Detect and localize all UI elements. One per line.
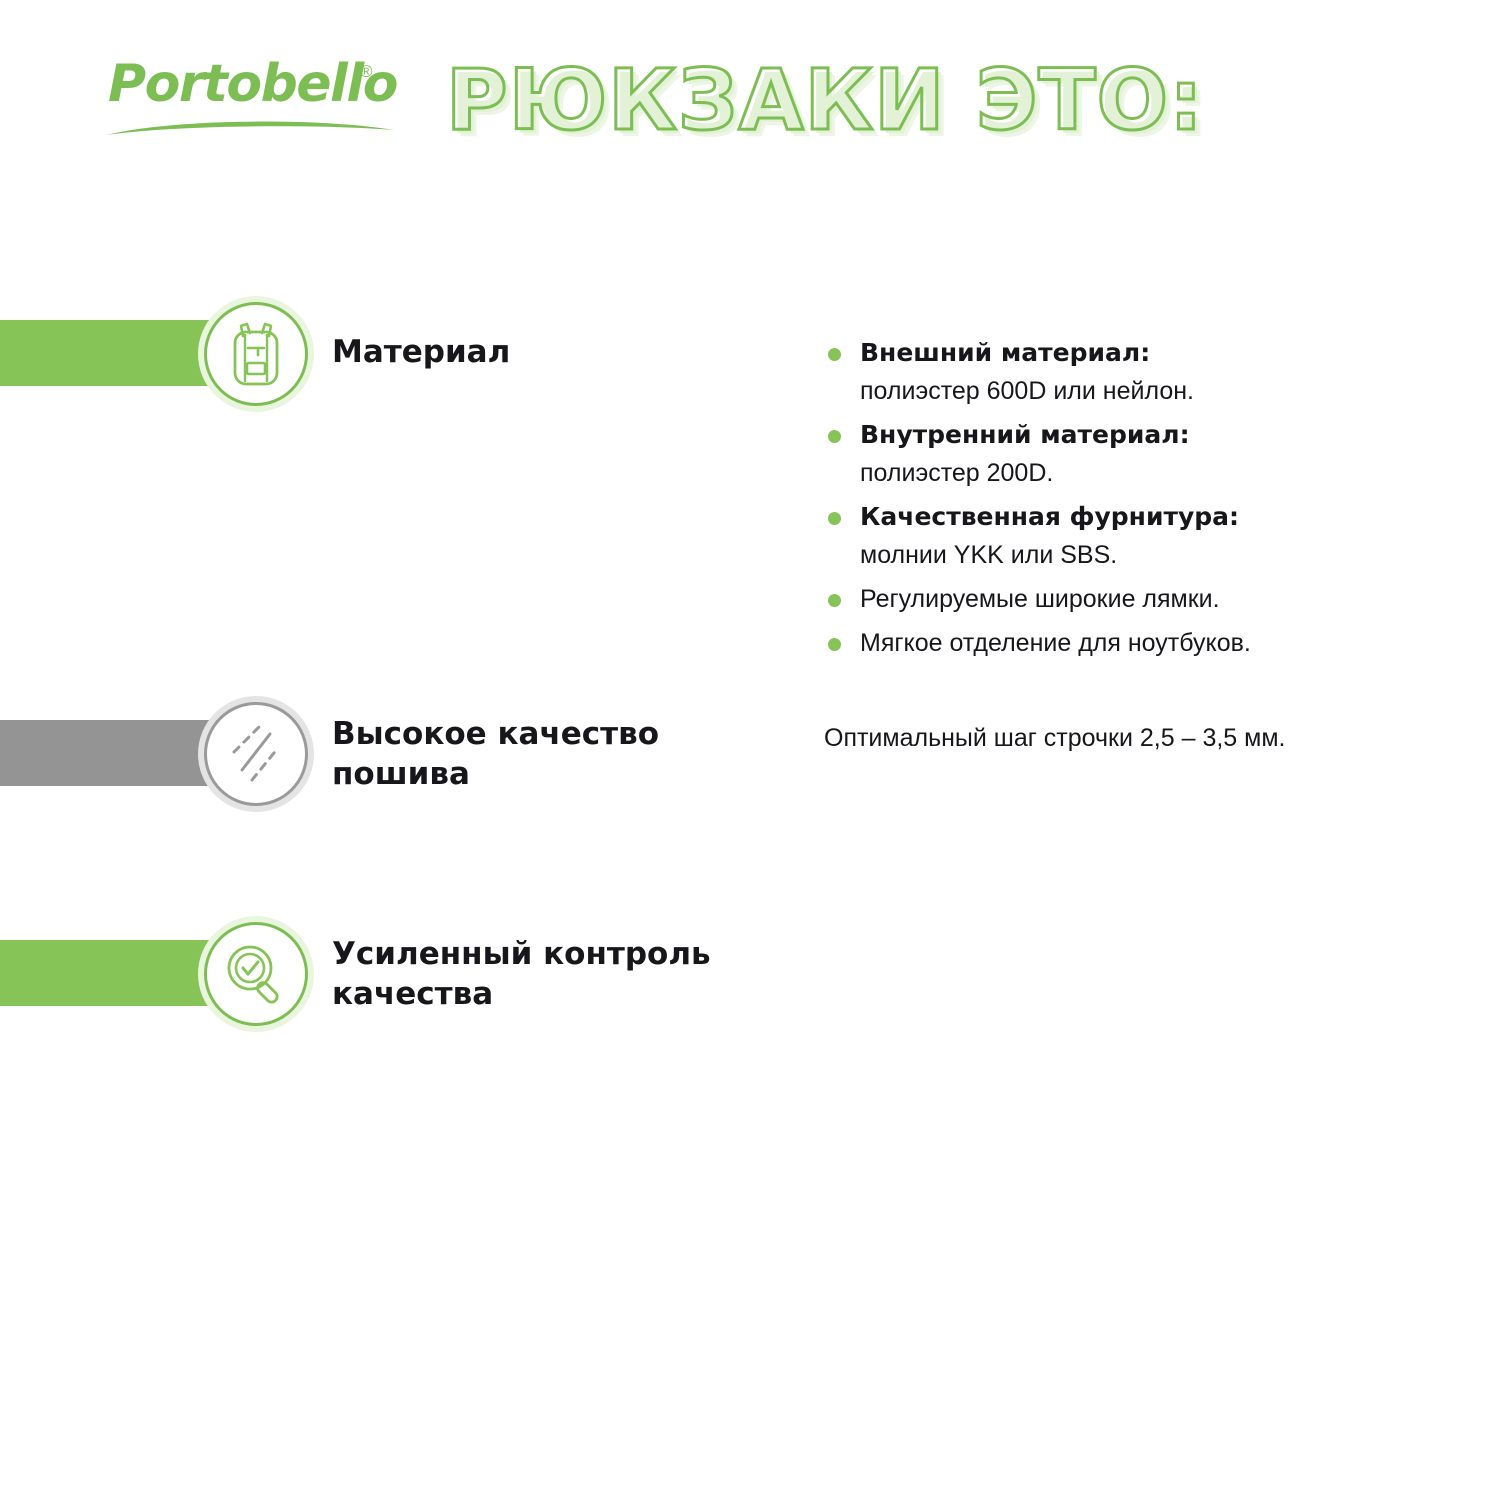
icon-disc [204,922,308,1026]
bullet-subtitle: полиэстер 600D или нейлон. [860,372,1444,410]
list-item: Регулируемые широкие лямки. [824,580,1444,618]
list-item: Внешний материал: полиэстер 600D или ней… [824,334,1444,410]
registered-trademark-icon: ® [360,62,373,82]
bullet-dot-icon [828,594,841,607]
row-icon-badge [198,696,314,812]
bullet-title: Регулируемые широкие лямки. [860,580,1444,618]
bullet-dot-icon [828,638,841,651]
list-item: Качественная фурнитура: молнии YKK или S… [824,498,1444,574]
bullet-title: Внешний материал: [860,334,1444,372]
stitching-icon [226,724,286,784]
brand-logo-text: Portobello [108,58,397,110]
list-item: Мягкое отделение для ноутбуков. [824,624,1444,662]
stitch-note: Оптимальный шаг строчки 2,5 – 3,5 мм. [824,720,1464,756]
brand-logo: Portobello ® [108,58,398,146]
logo-swoosh-icon [106,116,394,138]
list-item: Внутренний материал: полиэстер 200D. [824,416,1444,492]
row-icon-badge [198,296,314,412]
backpack-icon [227,322,285,386]
row-label: Усиленный контроль качества [332,934,711,1014]
row-label: Материал [332,332,510,372]
row-icon-badge [198,916,314,1032]
icon-disc [204,702,308,806]
bullet-dot-icon [828,430,841,443]
bullet-title: Мягкое отделение для ноутбуков. [860,624,1444,662]
page-title: РЮКЗАКИ ЭТО: [446,52,1204,148]
magnifier-check-icon [225,943,287,1005]
page-header: Portobello ® РЮКЗАКИ ЭТО: [0,0,1500,190]
bullet-subtitle: молнии YKK или SBS. [860,536,1444,574]
bullet-title: Качественная фурнитура: [860,498,1444,536]
row-label: Высокое качество пошива [332,714,659,794]
material-bullet-list: Внешний материал: полиэстер 600D или ней… [824,334,1444,668]
bullet-subtitle: полиэстер 200D. [860,454,1444,492]
icon-disc [204,302,308,406]
bullet-title: Внутренний материал: [860,416,1444,454]
bullet-dot-icon [828,512,841,525]
bullet-dot-icon [828,348,841,361]
